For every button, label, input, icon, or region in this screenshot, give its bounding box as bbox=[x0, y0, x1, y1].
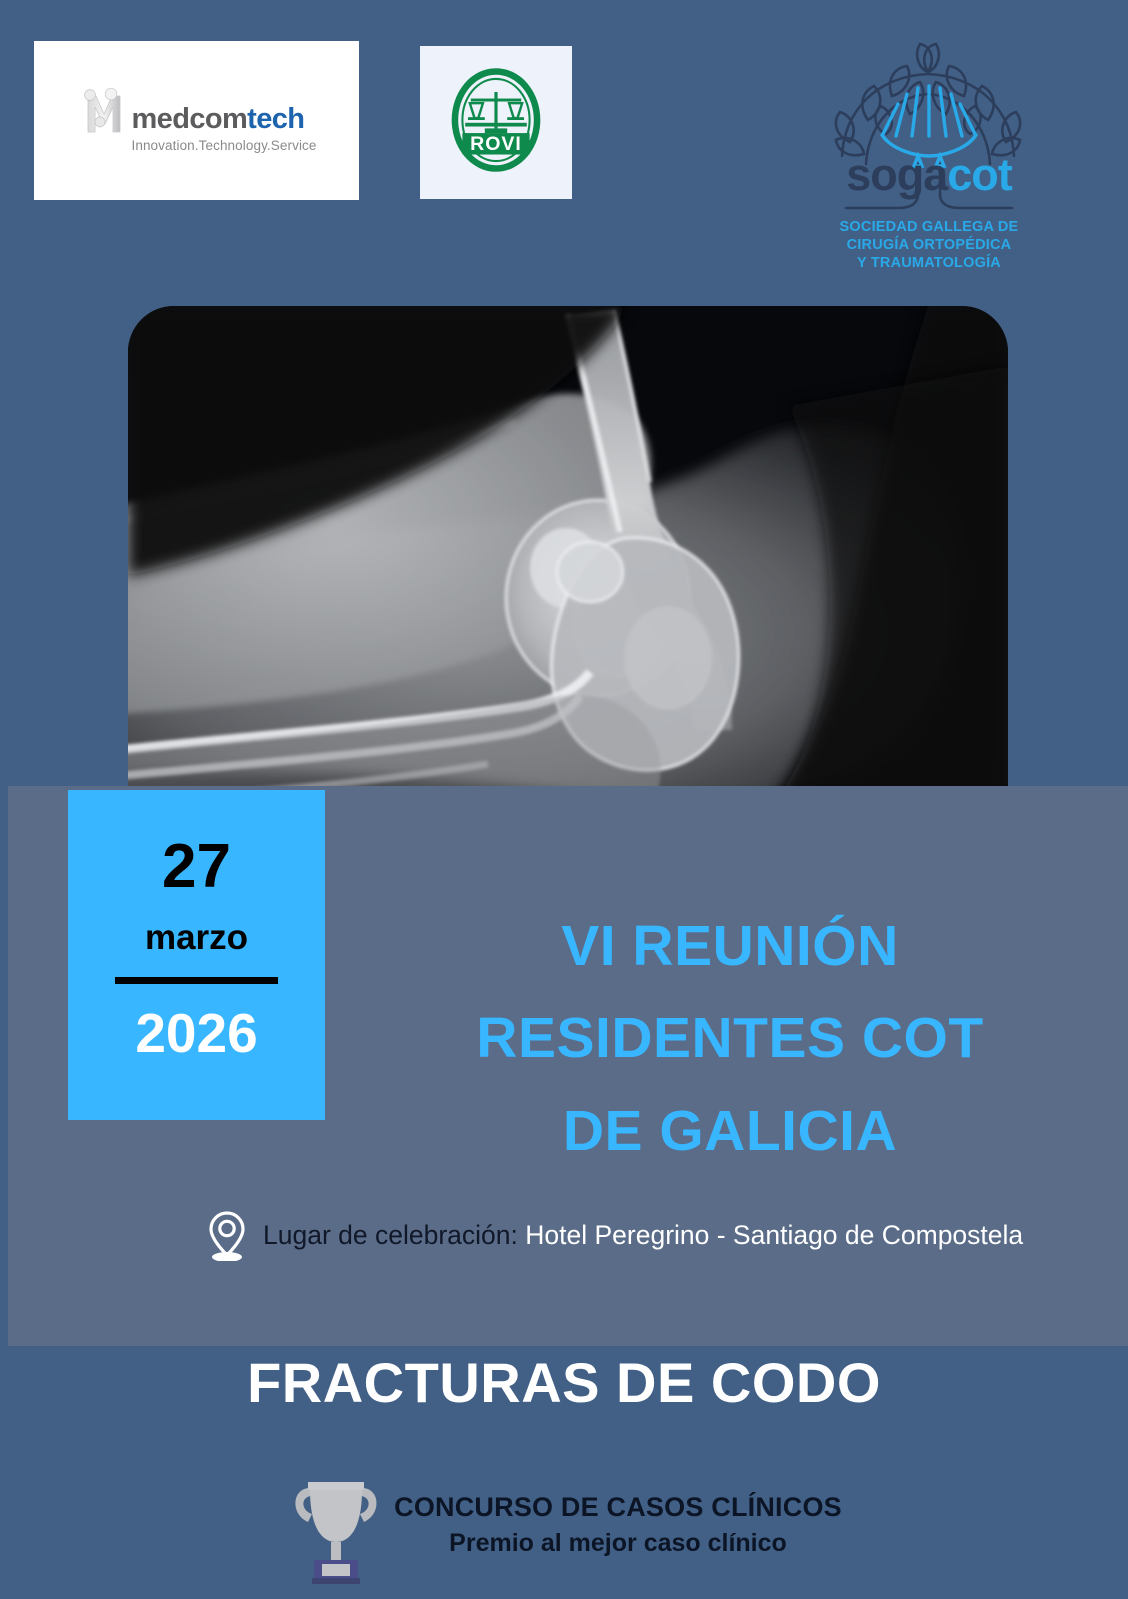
sogacot-subtitle-line-3: Y TRAUMATOLOGÍA bbox=[806, 254, 1052, 272]
event-date-day: 27 bbox=[162, 836, 231, 898]
medcomtech-word-part2: tech bbox=[247, 103, 304, 135]
venue-label: Lugar de celebración: bbox=[263, 1220, 518, 1250]
event-date-month: marzo bbox=[145, 920, 248, 955]
sogacot-wordmark: sogacot bbox=[806, 152, 1052, 197]
venue-value: Hotel Peregrino - Santiago de Compostela bbox=[525, 1220, 1023, 1250]
rovi-scales-emblem: ROVI bbox=[440, 64, 552, 181]
sponsor-logo-rovi: ROVI bbox=[420, 46, 572, 199]
location-pin-icon bbox=[205, 1209, 249, 1261]
contest-text: CONCURSO DE CASOS CLÍNICOS Premio al mej… bbox=[394, 1492, 842, 1558]
sogacot-subtitle-line-2: CIRUGÍA ORTOPÉDICA bbox=[806, 236, 1052, 254]
sogacot-word-part2: cot bbox=[947, 149, 1012, 200]
contest-subtitle: Premio al mejor caso clínico bbox=[394, 1529, 842, 1559]
medcomtech-m-logomark bbox=[84, 88, 124, 134]
contest-row: CONCURSO DE CASOS CLÍNICOS Premio al mej… bbox=[0, 1466, 1128, 1584]
sogacot-subtitle: SOCIEDAD GALLEGA DE CIRUGÍA ORTOPÉDICA Y… bbox=[806, 218, 1052, 272]
date-divider bbox=[115, 977, 278, 984]
event-title-line-3: DE GALICIA bbox=[400, 1085, 1060, 1177]
medcomtech-tagline: Innovation.Technology.Service bbox=[131, 138, 316, 153]
venue-text: Lugar de celebración: Hotel Peregrino - … bbox=[263, 1222, 1023, 1249]
medcomtech-wordmark: medcomtech bbox=[131, 105, 304, 134]
event-date-year: 2026 bbox=[135, 1006, 257, 1061]
sponsor-logo-medcomtech: medcomtech Innovation.Technology.Service bbox=[34, 41, 359, 200]
event-title: VI REUNIÓN RESIDENTES COT DE GALICIA bbox=[400, 900, 1060, 1177]
svg-text:ROVI: ROVI bbox=[470, 133, 522, 155]
elbow-xray-lateral-radiograph bbox=[128, 306, 1008, 866]
sogacot-subtitle-line-1: SOCIEDAD GALLEGA DE bbox=[806, 218, 1052, 236]
conference-poster: medcomtech Innovation.Technology.Service bbox=[0, 0, 1128, 1599]
contest-title: CONCURSO DE CASOS CLÍNICOS bbox=[394, 1492, 842, 1524]
venue-row: Lugar de celebración: Hotel Peregrino - … bbox=[205, 1205, 1085, 1265]
event-title-line-1: VI REUNIÓN bbox=[400, 900, 1060, 992]
sponsor-logo-row: medcomtech Innovation.Technology.Service bbox=[0, 0, 1128, 290]
sogacot-word-part1: soga bbox=[846, 149, 947, 200]
event-title-line-2: RESIDENTES COT bbox=[400, 992, 1060, 1084]
trophy-icon bbox=[286, 1466, 386, 1584]
event-date-block: 27 marzo 2026 bbox=[68, 790, 325, 1120]
subject-title: FRACTURAS DE CODO bbox=[0, 1355, 1128, 1411]
medcomtech-word-part1: medcom bbox=[131, 103, 247, 135]
sponsor-logo-sogacot: sogacot SOCIEDAD GALLEGA DE CIRUGÍA ORTO… bbox=[806, 24, 1052, 276]
